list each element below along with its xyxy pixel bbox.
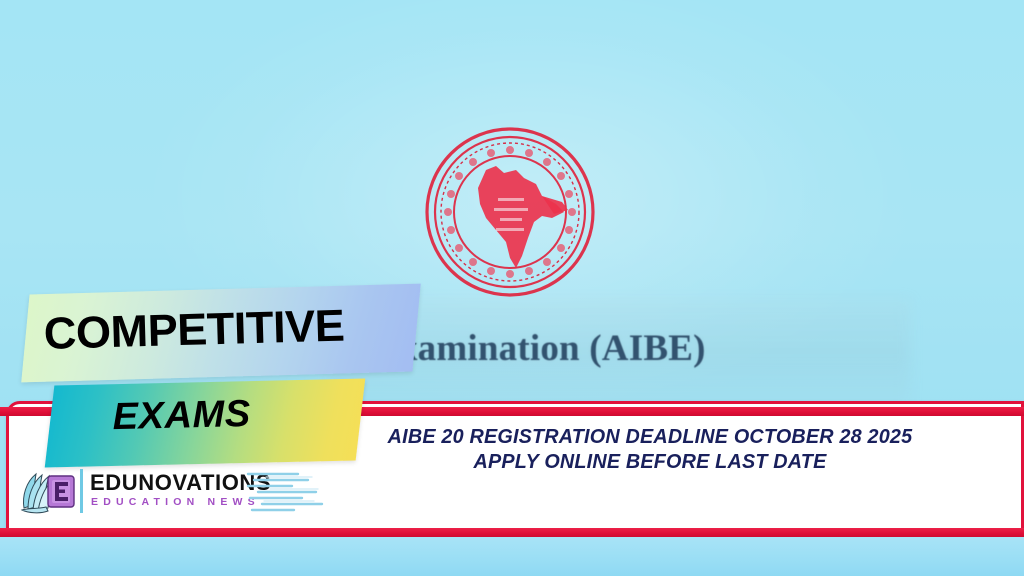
feather-quill-e-monogram-icon	[18, 466, 80, 516]
category-banner-exams-label: EXAMS	[112, 393, 251, 439]
category-banner-competitive-label: COMPETITIVE	[43, 300, 345, 360]
brand-divider	[80, 469, 83, 513]
panel-bottom-red-bar	[0, 528, 1024, 537]
brand-name: EDUNOVATIONS	[90, 470, 271, 496]
headline-line-2: APPLY ONLINE BEFORE LAST DATE	[312, 449, 988, 474]
category-banner-competitive: COMPETITIVE	[21, 284, 421, 383]
brand-tagline: EDUCATION NEWS	[91, 496, 260, 508]
speed-lines-icon	[246, 468, 324, 514]
category-banner-exams: EXAMS	[45, 378, 366, 467]
headline-line-1: AIBE 20 REGISTRATION DEADLINE OCTOBER 28…	[312, 424, 988, 449]
bar-council-of-india-emblem-icon	[424, 126, 596, 298]
brand-logo: EDUNOVATIONS EDUCATION NEWS	[18, 466, 318, 518]
headline: AIBE 20 REGISTRATION DEADLINE OCTOBER 28…	[312, 424, 988, 474]
bottom-strip	[0, 537, 1024, 576]
news-thumbnail-canvas: ar Examination (AIBE) AIBE 20 REGISTRATI…	[0, 0, 1024, 576]
